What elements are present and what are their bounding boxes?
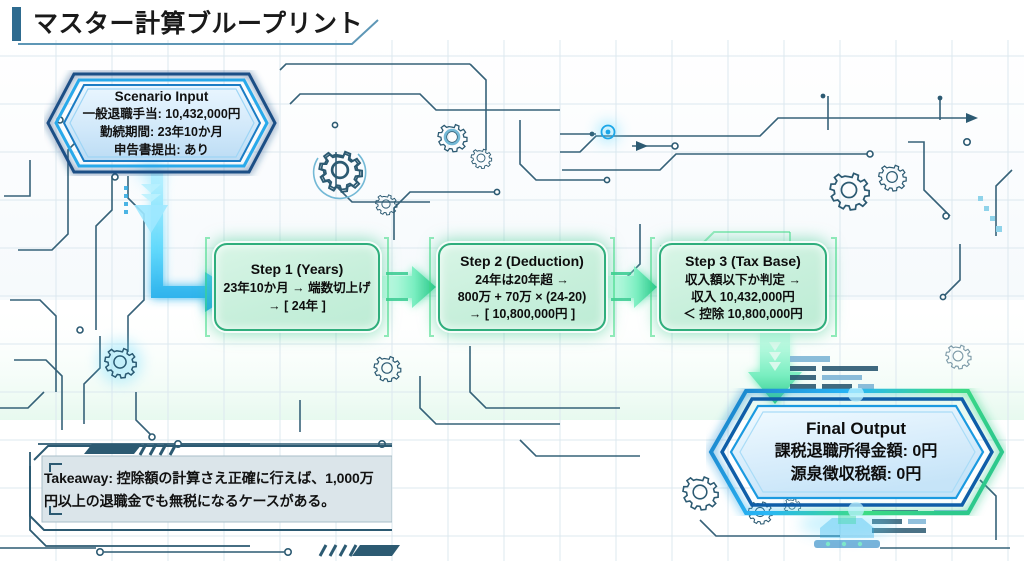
step-2-line-2: 800万 + 70万 × (24-20) xyxy=(458,289,587,306)
blueprint-canvas: マスター計算ブループリント Scenar xyxy=(0,0,1024,561)
final-output-heading: Final Output xyxy=(806,417,906,441)
title-accent-bar xyxy=(12,7,21,41)
step-2-node[interactable]: Step 2 (Deduction) 24年は20年超 → 800万 + 70万… xyxy=(438,243,606,331)
takeaway-panel: Takeaway: 控除額の計算さえ正確に行えば、1,000万円以上の退職金でも… xyxy=(20,442,392,538)
final-output-line-2: 源泉徴収税額: 0円 xyxy=(791,464,922,487)
step-1-line-2: → [ 24年 ] xyxy=(268,298,326,315)
step-3-heading: Step 3 (Tax Base) xyxy=(685,251,801,272)
step-3-line-3: ＜ 控除 10,800,000円 xyxy=(683,306,803,323)
step-2-line-3: → [ 10,800,000円 ] xyxy=(469,306,575,323)
step-3-line-1: 収入額以下か判定 → xyxy=(685,272,801,289)
scenario-input-line-3: 申告書提出: あり xyxy=(114,142,209,160)
scenario-input-line-2: 勤続期間: 23年10か月 xyxy=(100,124,223,142)
final-output-line-1: 課税退職所得金額: 0円 xyxy=(775,441,938,464)
step-2-line-1: 24年は20年超 → xyxy=(475,272,569,289)
step-2-heading: Step 2 (Deduction) xyxy=(460,251,584,272)
page-title: マスター計算ブループリント xyxy=(33,12,363,37)
scenario-input-line-1: 一般退職手当: 10,432,000円 xyxy=(83,106,241,124)
takeaway-text: Takeaway: 控除額の計算さえ正確に行えば、1,000万円以上の退職金でも… xyxy=(44,467,380,512)
scenario-input-heading: Scenario Input xyxy=(115,88,209,106)
step-3-line-2: 収入 10,432,000円 xyxy=(691,289,795,306)
final-output-node[interactable]: Final Output 課税退職所得金額: 0円 源泉徴収税額: 0円 xyxy=(706,388,1006,516)
step-1-node[interactable]: Step 1 (Years) 23年10か月 → 端数切上げ → [ 24年 ] xyxy=(214,243,380,331)
scenario-input-node[interactable]: Scenario Input 一般退職手当: 10,432,000円 勤続期間:… xyxy=(44,70,279,176)
page-title-block: マスター計算ブループリント xyxy=(0,0,400,48)
step-1-line-1: 23年10か月 → 端数切上げ xyxy=(223,280,370,297)
step-3-node[interactable]: Step 3 (Tax Base) 収入額以下か判定 → 収入 10,432,0… xyxy=(659,243,827,331)
step-1-heading: Step 1 (Years) xyxy=(251,259,344,280)
